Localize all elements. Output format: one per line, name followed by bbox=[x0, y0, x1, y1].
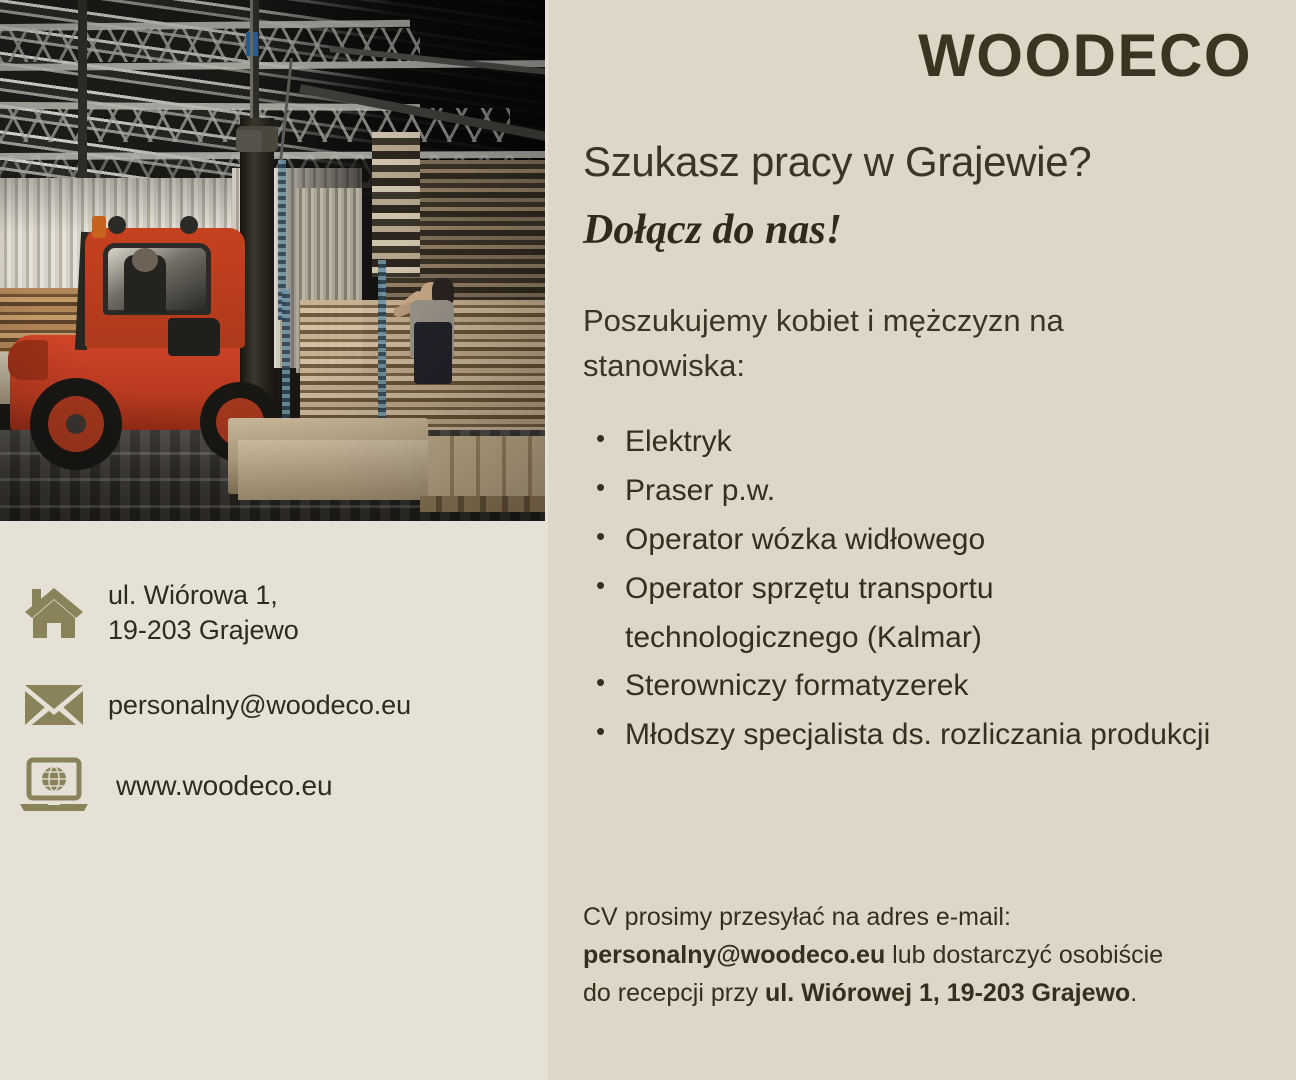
list-item: Operator wózka widłowego bbox=[583, 516, 1213, 565]
laptop-globe-icon bbox=[0, 756, 108, 816]
address-line-2: 19-203 Grajewo bbox=[108, 613, 299, 648]
list-item: Operator sprzętu transportu technologicz… bbox=[583, 565, 1213, 663]
headline-question: Szukasz pracy w Grajewie? bbox=[583, 138, 1091, 186]
email-text[interactable]: personalny@woodeco.eu bbox=[108, 688, 411, 723]
headline-call-to-action: Dołącz do nas! bbox=[583, 206, 842, 254]
left-panel: ul. Wiórowa 1, 19-203 Grajewo personalny… bbox=[0, 0, 548, 1080]
warehouse-photo bbox=[0, 0, 545, 521]
address-text: ul. Wiórowa 1, 19-203 Grajewo bbox=[108, 578, 299, 648]
company-logo: WOODECO bbox=[918, 26, 1252, 86]
list-item: Elektryk bbox=[583, 418, 1213, 467]
contact-block: ul. Wiórowa 1, 19-203 Grajewo personalny… bbox=[0, 578, 548, 824]
footer-after-email: lub dostarczyć osobiście bbox=[885, 941, 1163, 969]
list-item: Sterowniczy formatyzerek bbox=[583, 662, 1213, 711]
footer-email-bold[interactable]: personalny@woodeco.eu bbox=[583, 941, 885, 969]
contact-address-row: ul. Wiórowa 1, 19-203 Grajewo bbox=[0, 578, 548, 648]
photo-vignette bbox=[0, 0, 545, 521]
house-icon bbox=[0, 585, 108, 641]
job-advert-poster: ul. Wiórowa 1, 19-203 Grajewo personalny… bbox=[0, 0, 1296, 1080]
intro-text: Poszukujemy kobiet i mężczyzn na stanowi… bbox=[583, 298, 1143, 389]
website-text[interactable]: www.woodeco.eu bbox=[108, 768, 333, 804]
application-instructions: CV prosimy przesyłać na adres e-mail: pe… bbox=[583, 898, 1248, 1012]
footer-line-3-suffix: . bbox=[1130, 979, 1137, 1007]
contact-email-row[interactable]: personalny@woodeco.eu bbox=[0, 682, 548, 728]
contact-website-row[interactable]: www.woodeco.eu bbox=[0, 756, 548, 816]
footer-line-1: CV prosimy przesyłać na adres e-mail: bbox=[583, 903, 1011, 931]
address-line-1: ul. Wiórowa 1, bbox=[108, 578, 299, 613]
list-item: Praser p.w. bbox=[583, 467, 1213, 516]
positions-list: Elektryk Praser p.w. Operator wózka widł… bbox=[583, 418, 1213, 760]
envelope-icon bbox=[0, 682, 108, 728]
list-item: Młodszy specjalista ds. rozliczania prod… bbox=[583, 711, 1213, 760]
footer-line-3-prefix: do recepcji przy bbox=[583, 979, 765, 1007]
footer-address-bold: ul. Wiórowej 1, 19-203 Grajewo bbox=[765, 979, 1130, 1007]
right-panel: WOODECO Szukasz pracy w Grajewie? Dołącz… bbox=[548, 0, 1296, 1080]
